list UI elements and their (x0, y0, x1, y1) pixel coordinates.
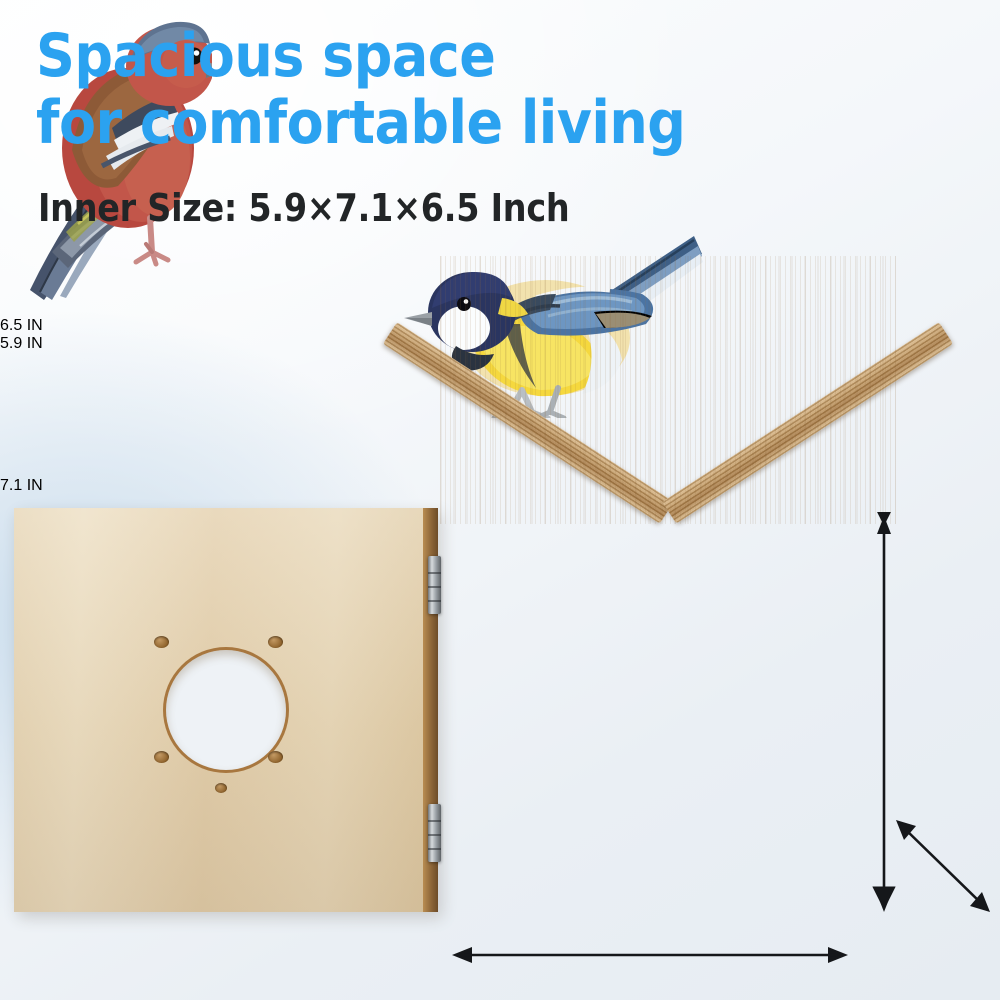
pilot-hole (268, 636, 283, 648)
entrance-hole (166, 650, 286, 770)
pilot-hole (215, 783, 227, 793)
pilot-hole (154, 636, 169, 648)
headline-line-2: for comfortable living (36, 93, 720, 154)
birdhouse (398, 228, 938, 928)
birdhouse-roof (398, 228, 938, 528)
birdhouse-door-panel[interactable] (14, 508, 438, 912)
pilot-hole (268, 751, 283, 763)
width-dimension-arrow (448, 942, 852, 968)
depth-dimension-arrow (890, 812, 1000, 920)
pilot-hole (154, 751, 169, 763)
product-feature-image: Spacious space for comfortable living In… (0, 0, 1000, 1000)
headline-line-1: Spacious space (36, 21, 495, 91)
gable-front-panel (440, 256, 896, 524)
inner-size-subtitle: Inner Size: 5.9×7.1×6.5 Inch (38, 186, 569, 230)
page-title: Spacious space for comfortable living (36, 26, 720, 154)
